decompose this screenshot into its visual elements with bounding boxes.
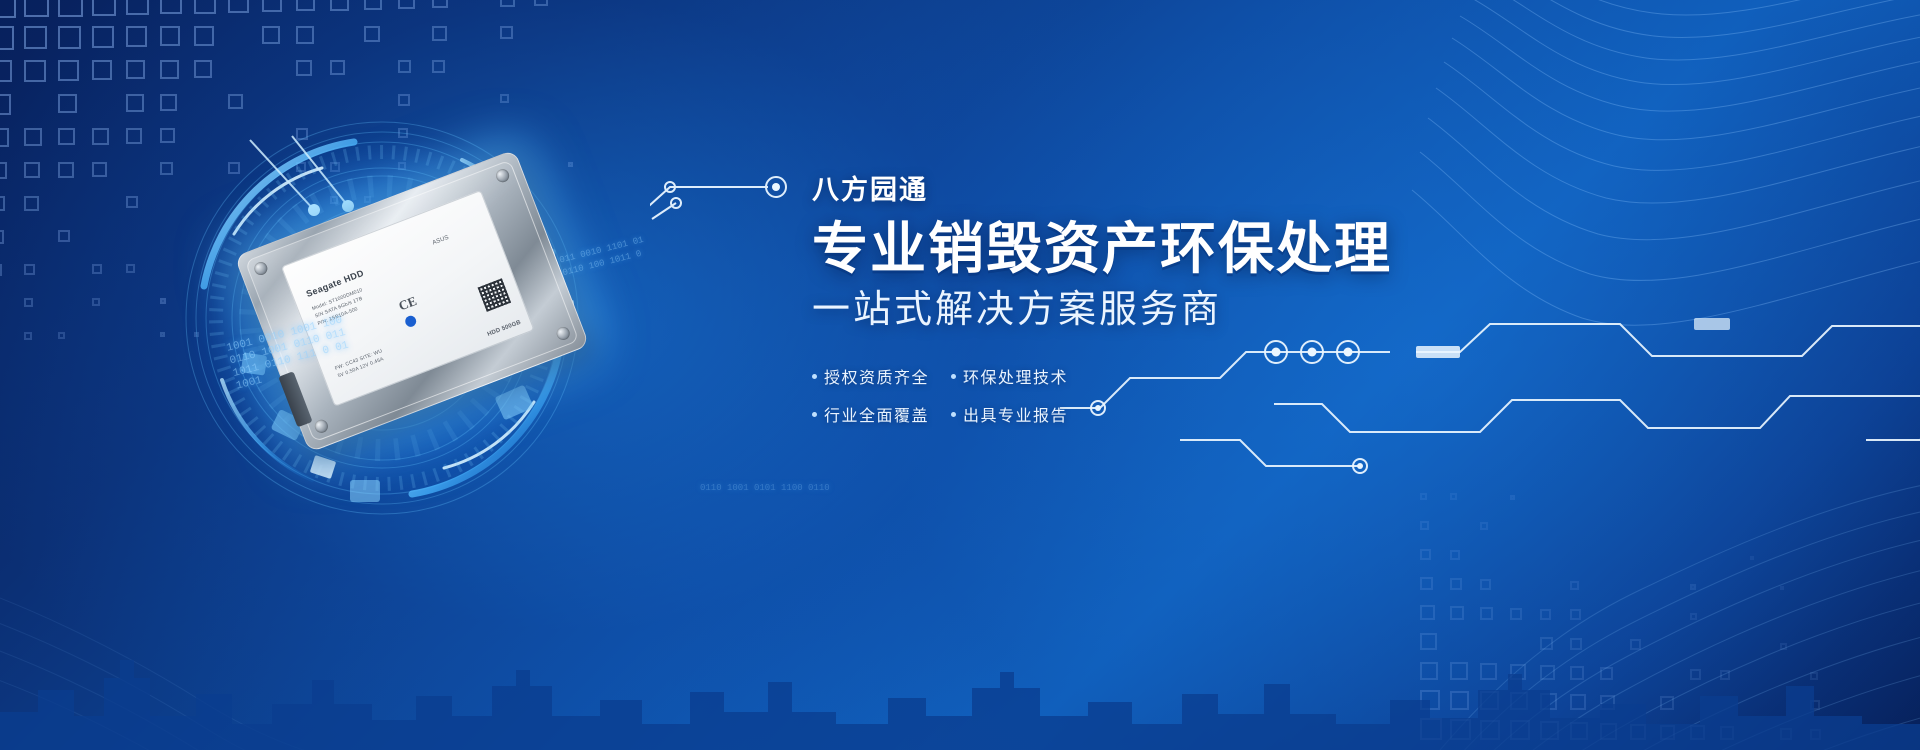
bullet-dot-icon (812, 412, 817, 417)
hdd-qr-code (478, 278, 512, 312)
feature-item: 行业全面覆盖 (812, 402, 929, 426)
brand-name: 八方园通 (812, 176, 1512, 206)
circuit-trace-pointer (650, 165, 830, 225)
banner-content: 八方园通 专业销毁资产环保处理 一站式解决方案服务商 授权资质齐全 环保处理技术… (812, 176, 1512, 440)
promo-banner: Seagate HDD Model: ST1000DM010 S/N SATA … (0, 0, 1920, 750)
feature-item: 授权资质齐全 (812, 364, 929, 388)
feature-item: 环保处理技术 (951, 364, 1068, 388)
bullet-dot-icon (812, 374, 817, 379)
bullet-dot-icon (951, 374, 956, 379)
feature-label: 授权资质齐全 (824, 364, 929, 388)
feature-list: 授权资质齐全 环保处理技术 行业全面覆盖 出具专业报告 (812, 364, 1112, 426)
subheadline: 一站式解决方案服务商 (812, 288, 1512, 334)
feature-label: 出具专业报告 (963, 402, 1068, 426)
feature-row: 授权资质齐全 环保处理技术 (812, 364, 1112, 388)
hdd-label-bottom: HDD 500GB (487, 320, 523, 339)
binary-code-decoration: 0110 1001 0101 1100 0110 (700, 482, 830, 495)
feature-row: 行业全面覆盖 出具专业报告 (812, 402, 1112, 426)
feature-item: 出具专业报告 (951, 402, 1068, 426)
hdd-blue-dot (404, 314, 418, 328)
bullet-dot-icon (951, 412, 956, 417)
headline: 专业销毁资产环保处理 (812, 218, 1512, 281)
city-skyline-decoration (0, 620, 1920, 750)
feature-label: 行业全面覆盖 (824, 402, 929, 426)
feature-label: 环保处理技术 (963, 364, 1068, 388)
hdd-label-side: ASUS (432, 235, 451, 248)
hdd-ce-mark: CE (396, 293, 419, 314)
